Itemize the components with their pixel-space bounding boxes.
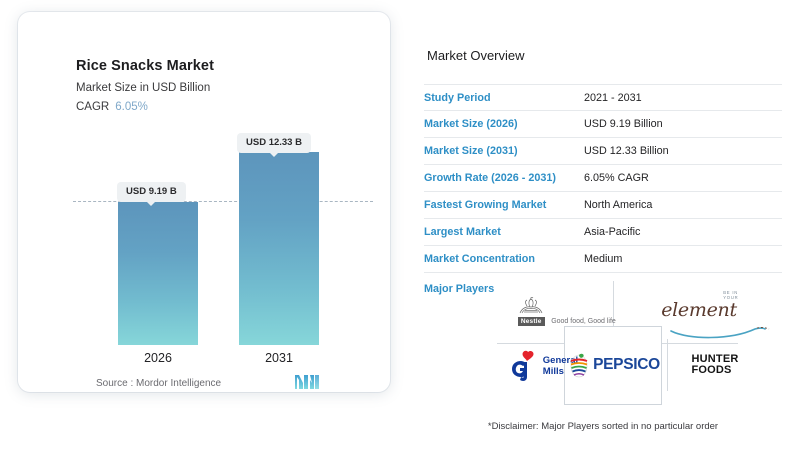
bar-value-label-2031: USD 12.33 B	[237, 133, 311, 153]
table-row: Fastest Growing Market North America	[424, 192, 782, 219]
table-row: Growth Rate (2026 - 2031) 6.05% CAGR	[424, 165, 782, 192]
pepsico-wordmark: PEPSICO	[593, 356, 660, 374]
element-small-text: BE IN YOUR	[723, 290, 738, 300]
row-value: North America	[584, 199, 652, 211]
table-row: Study Period 2021 - 2031	[424, 84, 782, 111]
major-players-logo-grid: Nestle Good food, Good life element BE I…	[497, 281, 763, 405]
disclaimer-text: *Disclaimer: Major Players sorted in no …	[424, 421, 782, 432]
row-label: Fastest Growing Market	[424, 199, 584, 211]
bar-2031	[239, 152, 319, 345]
logo-pepsico: PEPSICO	[569, 337, 659, 393]
row-value: Medium	[584, 253, 622, 265]
market-report-infographic: Rice Snacks Market Market Size in USD Bi…	[0, 0, 800, 459]
row-value: USD 9.19 Billion	[584, 118, 663, 130]
nestle-tagline: Good food, Good life	[551, 318, 616, 326]
row-label: Market Concentration	[424, 253, 584, 265]
row-label: Growth Rate (2026 - 2031)	[424, 172, 584, 184]
bar-chart-plot: USD 9.19 B USD 12.33 B 2026 2031	[18, 12, 390, 392]
row-value: 6.05% CAGR	[584, 172, 649, 184]
x-axis-tick-2031: 2031	[239, 351, 319, 365]
market-overview-table: Study Period 2021 - 2031 Market Size (20…	[424, 84, 782, 273]
chart-card: Rice Snacks Market Market Size in USD Bi…	[18, 12, 390, 392]
source-text: Source : Mordor Intelligence	[96, 378, 221, 389]
mordor-intelligence-logo-icon	[294, 374, 320, 390]
logo-nestle: Nestle Good food, Good life	[505, 289, 627, 333]
row-label: Market Size (2031)	[424, 145, 584, 157]
row-label: Study Period	[424, 92, 584, 104]
table-row: Market Size (2031) USD 12.33 Billion	[424, 138, 782, 165]
row-value: 2021 - 2031	[584, 92, 642, 104]
logo-hunter-foods: HUNTER FOODS	[669, 339, 761, 391]
row-label: Largest Market	[424, 226, 584, 238]
row-label: Market Size (2026)	[424, 118, 584, 130]
major-players-label: Major Players	[424, 283, 494, 295]
element-wordmark: element BE IN YOUR	[661, 299, 737, 321]
table-row: Market Size (2026) USD 9.19 Billion	[424, 111, 782, 138]
pepsico-globe-icon	[568, 351, 590, 379]
x-axis-tick-2026: 2026	[118, 351, 198, 365]
general-mills-g-icon	[508, 350, 538, 382]
table-row: Market Concentration Medium	[424, 246, 782, 273]
grid-divider-vertical-right	[667, 339, 668, 391]
hunter-foods-wordmark: HUNTER FOODS	[691, 354, 738, 377]
row-value: Asia-Pacific	[584, 226, 640, 238]
market-overview-heading: Market Overview	[427, 48, 525, 63]
nestle-bird-nest-icon: Nestle	[516, 296, 546, 326]
nestle-wordmark: Nestle	[518, 317, 545, 326]
logo-element: element BE IN YOUR	[639, 285, 759, 335]
bar-2026	[118, 202, 198, 345]
bar-value-label-2026: USD 9.19 B	[117, 182, 186, 202]
table-row: Largest Market Asia-Pacific	[424, 219, 782, 246]
row-value: USD 12.33 Billion	[584, 145, 669, 157]
